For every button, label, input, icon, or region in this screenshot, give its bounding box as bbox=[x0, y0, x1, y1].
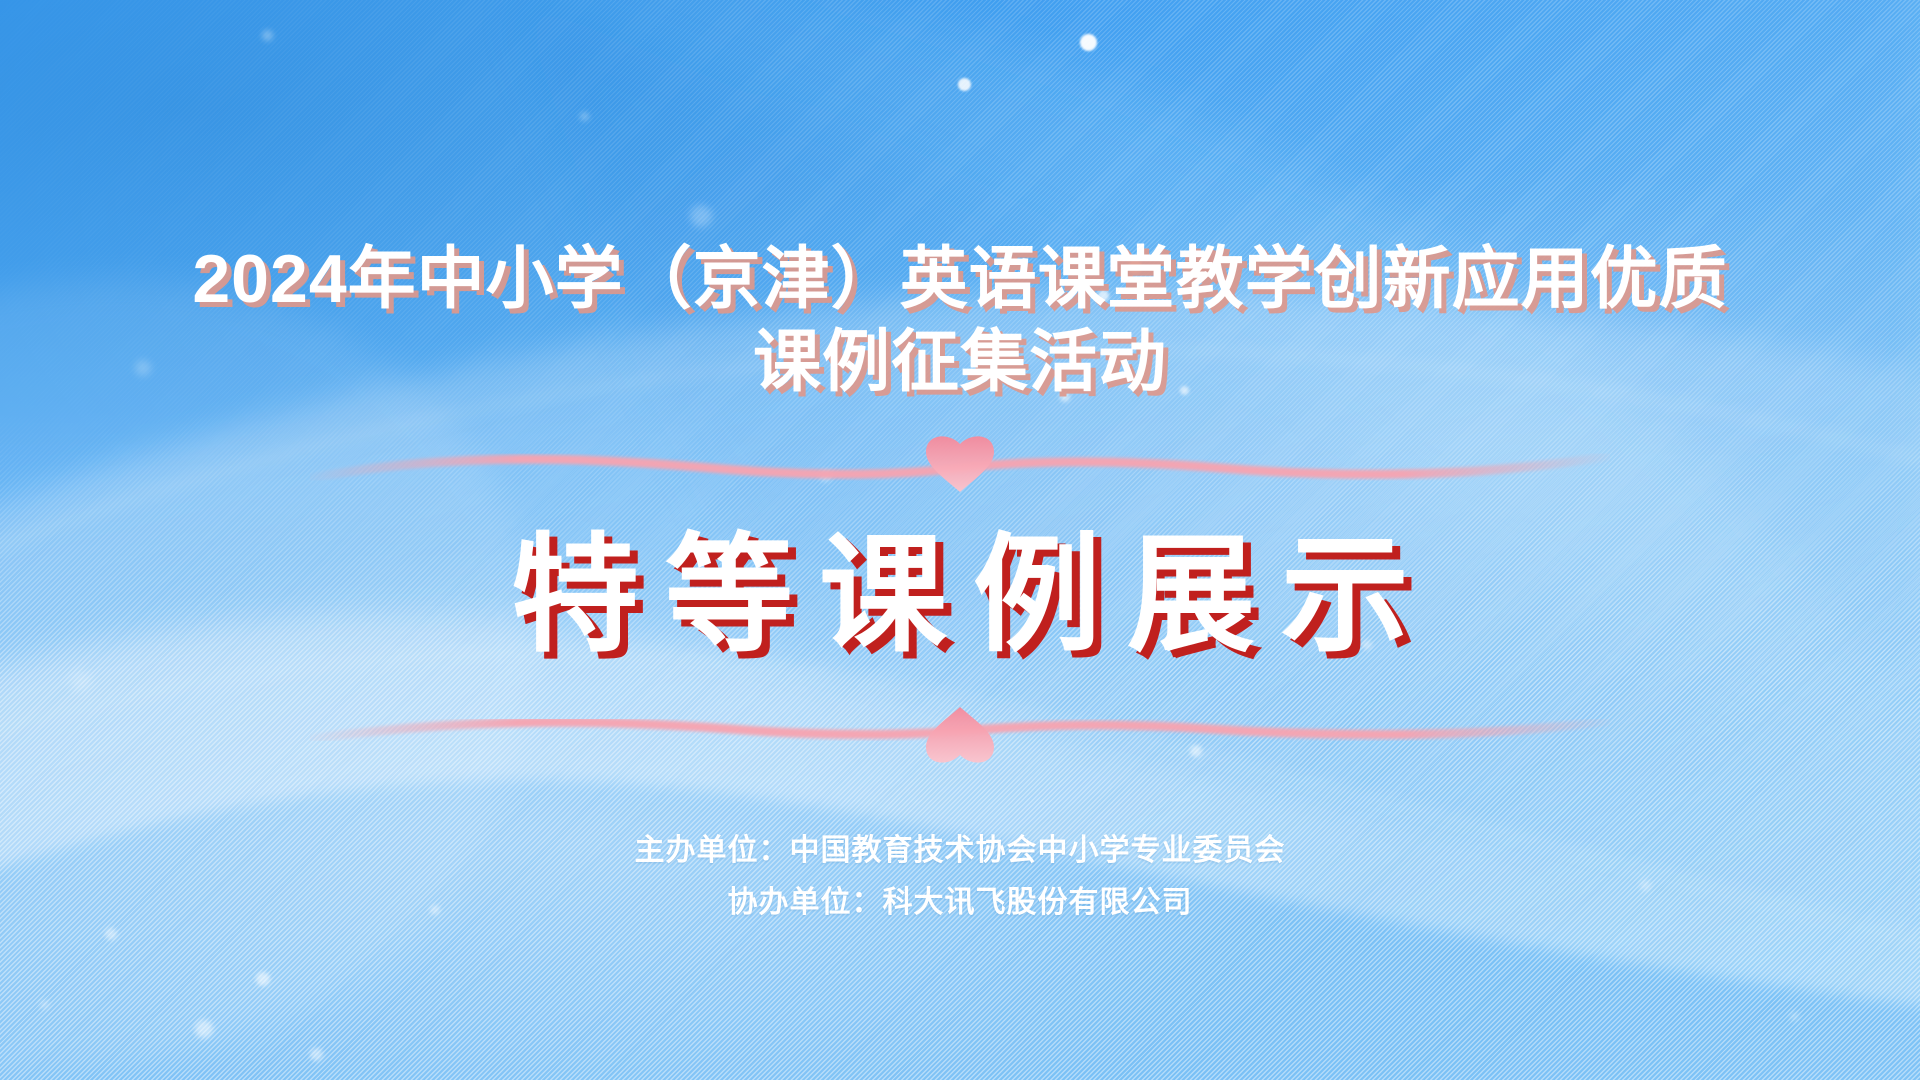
divider-top bbox=[310, 434, 1610, 498]
headline-text: 特等课例展示 bbox=[485, 524, 1435, 667]
event-title-line-1: 2024年中小学（京津）英语课堂教学创新应用优质 bbox=[180, 238, 1740, 321]
footer-credits: 主办单位：中国教育技术协会中小学专业委员会 协办单位：科大讯飞股份有限公司 bbox=[635, 825, 1286, 928]
heart-icon bbox=[310, 434, 1610, 498]
footer-organizer: 主办单位：中国教育技术协会中小学专业委员会 bbox=[635, 825, 1286, 877]
event-title: 2024年中小学（京津）英语课堂教学创新应用优质 课例征集活动 bbox=[180, 238, 1740, 404]
poster-canvas: 2024年中小学（京津）英语课堂教学创新应用优质 课例征集活动 bbox=[0, 0, 1920, 1080]
event-title-line-2: 课例征集活动 bbox=[180, 321, 1740, 404]
heart-inverted-icon bbox=[310, 701, 1610, 765]
divider-bottom bbox=[310, 701, 1610, 765]
footer-coorganizer: 协办单位：科大讯飞股份有限公司 bbox=[635, 877, 1286, 929]
